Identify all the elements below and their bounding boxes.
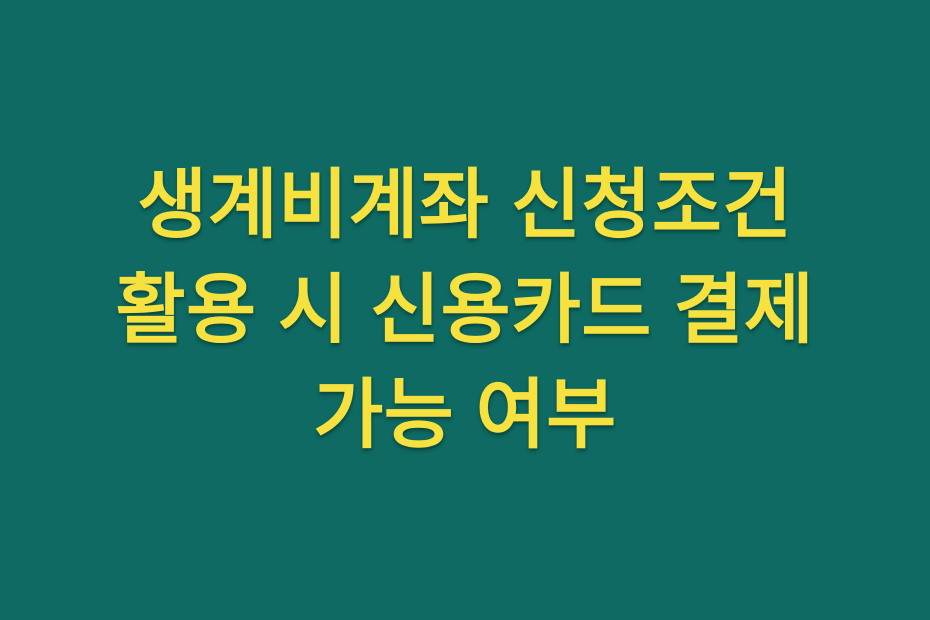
thumbnail-card: 생계비계좌 신청조건 활용 시 신용카드 결제 가능 여부 — [0, 0, 930, 620]
page-title: 생계비계좌 신청조건 활용 시 신용카드 결제 가능 여부 — [80, 153, 850, 468]
title-block: 생계비계좌 신청조건 활용 시 신용카드 결제 가능 여부 — [70, 153, 860, 468]
